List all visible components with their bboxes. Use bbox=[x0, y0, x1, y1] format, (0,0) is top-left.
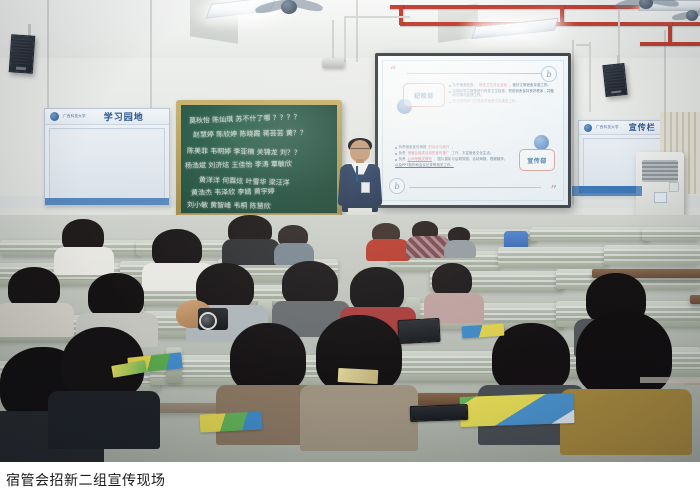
conduit bbox=[344, 16, 410, 18]
audience-seating-area bbox=[0, 215, 700, 462]
bullet-text-tail: ，做好文明宿舍评选工作。 bbox=[509, 83, 551, 87]
slide-bullets-bottom: 负责宿舍宣传海报 的设计与制作 ； 负责 宿管会各类活动的宣传推广 工作，丰富宿… bbox=[395, 145, 511, 169]
wall-speaker-right bbox=[602, 63, 627, 97]
chalk-line: 杨浩斌 刘济炫 王佳怡 李涛 覃敏欣 bbox=[185, 160, 292, 170]
slide-bullets-top: 负责宿舍检查， 宿舍卫生评比活动 ，做好文明宿舍评选工作。 定期对学生宿舍进行内… bbox=[449, 83, 557, 105]
desk-item bbox=[640, 377, 700, 383]
slide-badge-bottom: b bbox=[389, 178, 405, 194]
bullet-text-tail: 、图片摄影与后期剪辑，活动海报、视频制作、 bbox=[434, 157, 507, 161]
bullet-accent: 公众号推文撰写 bbox=[408, 157, 432, 161]
presentation-slide: “ b 纪检部 负责宿舍检查， 宿舍卫生评比活动 ，做好文 bbox=[382, 60, 564, 201]
bench-row-mid[interactable] bbox=[604, 245, 700, 265]
bullet-item: 定期对学生宿舍进行内务卫生检查，督促宿舍保持良好秩序，并做好记录与反馈工作。 bbox=[449, 89, 557, 98]
sprinkler-pipe-riser bbox=[668, 22, 672, 44]
bullet-text: 定期对学生宿舍进行内务卫生检查，督促宿舍保持良好秩序，并做好记录与反馈工作。 bbox=[453, 89, 557, 98]
projector-arm bbox=[576, 44, 590, 46]
bullet-item: 负责宿舍宣传海报 的设计与制作 ； bbox=[395, 145, 511, 149]
blackboard-frame: 莫秋怡 陈灿琪 苏不什了哪 ？？？？ 赵慧婷 陈欣婷 陈晓霞 蒋芸芸 黄？？ 陈… bbox=[176, 100, 342, 218]
blackboard: 莫秋怡 陈灿琪 苏不什了哪 ？？？？ 赵慧婷 陈欣婷 陈晓霞 蒋芸芸 黄？？ 陈… bbox=[181, 105, 337, 213]
wall-seam bbox=[572, 40, 574, 205]
chalk-line: 莫秋怡 陈灿琪 苏不什了哪 ？？？？ bbox=[189, 113, 301, 125]
bullet-item: 以及PPT制作和会议记录等相关工作。 bbox=[395, 163, 511, 167]
student-desk[interactable] bbox=[690, 295, 700, 304]
bullet-accent: 的设计与制作 bbox=[429, 145, 450, 149]
id-badge bbox=[361, 182, 370, 193]
presenter-arm-right bbox=[371, 166, 383, 207]
bullet-dot-icon bbox=[395, 159, 397, 161]
bullet-text: 以及PPT制作和会议记录等相关工作。 bbox=[395, 163, 454, 167]
board-org-name: 广西科技大学 bbox=[596, 125, 619, 130]
dept-box-publicity: 宣传部 bbox=[519, 149, 555, 171]
projector bbox=[322, 58, 344, 68]
chalk-line: 陈美菲 韦明婷 李亚楠 关锦龙 刘？？ bbox=[187, 147, 301, 157]
board-org-name: 广西科技大学 bbox=[63, 114, 86, 119]
conduit bbox=[589, 42, 591, 112]
bullet-item: 负责 宿管会各类活动的宣传推广 工作，丰富宿舍文化生活； bbox=[395, 151, 511, 155]
bullet-dot-icon bbox=[449, 91, 451, 93]
slide-badge-top: b bbox=[541, 66, 557, 82]
projection-screen-frame: “ b 纪检部 负责宿舍检查， 宿舍卫生评比活动 ，做好文 bbox=[375, 53, 571, 208]
wall-speaker-left bbox=[9, 34, 36, 74]
tablet-device[interactable] bbox=[397, 318, 440, 344]
notebook[interactable] bbox=[338, 368, 379, 384]
bullet-accent: 宿舍卫生评比活动 bbox=[479, 83, 507, 87]
university-seal-icon bbox=[584, 124, 592, 132]
wall-seam bbox=[356, 0, 358, 62]
dept-label-publicity: 宣传部 bbox=[527, 156, 547, 165]
ac-display bbox=[654, 192, 667, 203]
ac-vent-grill bbox=[642, 160, 678, 182]
bullet-text: 负责 bbox=[399, 157, 406, 161]
wall-wainscot bbox=[572, 186, 642, 196]
lanyard bbox=[356, 166, 358, 182]
board-content-area bbox=[49, 128, 165, 201]
bullet-item: 负责 公众号推文撰写 、图片摄影与后期剪辑，活动海报、视频制作、 bbox=[395, 157, 511, 161]
ac-label bbox=[669, 182, 679, 192]
classroom-photo: 广西科技大学 学习园地 广西科技大学 宣传栏 bbox=[0, 0, 700, 462]
speaker-grill bbox=[606, 67, 624, 90]
bullet-dot-icon bbox=[449, 102, 451, 104]
bullet-text-tail: ； bbox=[451, 145, 455, 149]
board-header: 广西科技大学 宣传栏 bbox=[579, 121, 667, 135]
quote-open-icon: “ bbox=[390, 67, 396, 75]
pamphlet-large[interactable] bbox=[460, 393, 575, 427]
screenshot-root: 广西科技大学 学习园地 广西科技大学 宣传栏 bbox=[0, 0, 700, 499]
bench-row-far[interactable] bbox=[642, 227, 700, 241]
quote-close-icon: ” bbox=[551, 186, 557, 194]
glasses-icon bbox=[351, 148, 369, 153]
dept-label-discipline: 纪检部 bbox=[414, 91, 434, 100]
camera-lens-icon bbox=[199, 312, 217, 330]
board-footer-strip bbox=[45, 198, 169, 205]
slide-rule-bottom bbox=[409, 187, 541, 188]
bullet-dot-icon bbox=[395, 147, 397, 149]
dept-accent-dot-bottom bbox=[534, 135, 549, 150]
wall-board-learning-garden[interactable]: 广西科技大学 学习园地 bbox=[44, 108, 170, 206]
bench-row-far[interactable] bbox=[530, 227, 650, 241]
chalk-line: 赵慧婷 陈欣婷 陈晓霞 蒋芸芸 黄？？ bbox=[193, 129, 307, 139]
board-title-right: 宣传栏 bbox=[629, 122, 656, 133]
speaker-badge bbox=[16, 66, 27, 70]
chalk-line: 黄浩杰 韦泽欣 李婧 黄宇婷 bbox=[191, 188, 275, 197]
bullet-text: 负责宿舍检查， bbox=[453, 83, 477, 87]
speaker-badge bbox=[611, 90, 621, 94]
sprinkler-pipe bbox=[640, 42, 700, 46]
bullet-text: 配合其他部门完成各项宿舍文化建设工作。 bbox=[453, 99, 519, 103]
bullet-dot-icon bbox=[395, 153, 397, 155]
projector-arm bbox=[332, 20, 334, 60]
speaker-grill bbox=[12, 38, 31, 65]
bullet-text: 负责 bbox=[399, 151, 406, 155]
chalk-line: 刘小敏 黄智峰 韦桐 陈慧欣 bbox=[187, 201, 271, 210]
bullet-item: 配合其他部门完成各项宿舍文化建设工作。 bbox=[449, 99, 557, 103]
sprinkler-pipe-riser bbox=[399, 5, 403, 25]
conduit bbox=[344, 16, 346, 62]
image-caption: 宿管会招新二组宣传现场 bbox=[6, 470, 166, 490]
university-seal-icon bbox=[50, 112, 59, 121]
smartphone[interactable] bbox=[410, 404, 469, 422]
bullet-accent: 宿管会各类活动的宣传推广 bbox=[408, 151, 450, 155]
board-header: 广西科技大学 学习园地 bbox=[45, 109, 169, 125]
lamp-glow bbox=[452, 10, 582, 50]
bullet-dot-icon bbox=[449, 85, 451, 87]
chalk-line: 黄洋洋 何霖炫 叶雪华 梁汪洋 bbox=[199, 176, 290, 187]
bullet-item: 负责宿舍检查， 宿舍卫生评比活动 ，做好文明宿舍评选工作。 bbox=[449, 83, 557, 87]
board-title-left: 学习园地 bbox=[104, 110, 144, 123]
slide-rule-top bbox=[407, 73, 541, 74]
bullet-text: 负责宿舍宣传海报 bbox=[399, 145, 427, 149]
pamphlet[interactable] bbox=[200, 411, 263, 432]
bench-row-mid[interactable] bbox=[498, 247, 608, 267]
dept-box-discipline: 纪检部 bbox=[403, 83, 445, 107]
bullet-text-tail: 工作，丰富宿舍文化生活； bbox=[451, 151, 493, 155]
projection-screen[interactable]: “ b 纪检部 负责宿舍检查， 宿舍卫生评比活动 ，做好文 bbox=[378, 56, 568, 205]
